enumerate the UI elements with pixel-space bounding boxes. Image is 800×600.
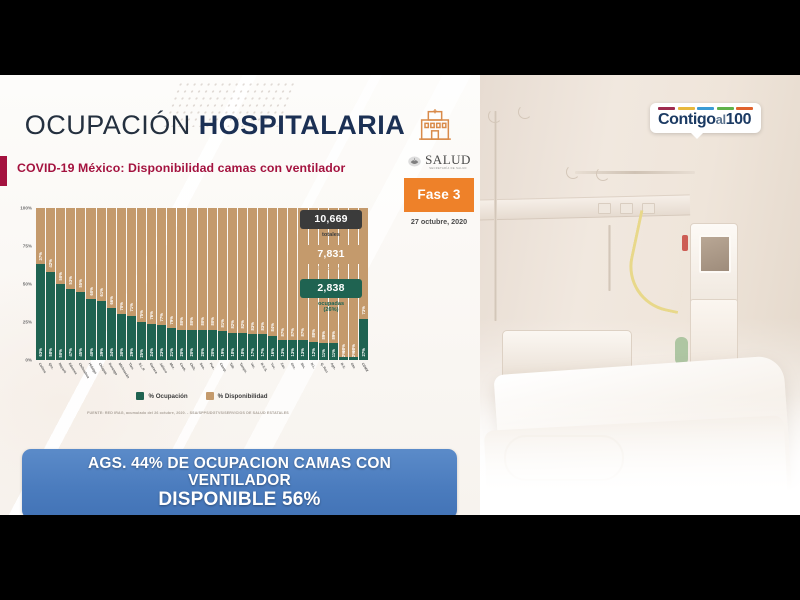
logo-color-bar [678,107,695,110]
x-axis-tick: Ver. [248,361,257,387]
section-title: COVID-19 México: Disponibilidad camas co… [17,161,345,175]
bar-label-disponibilidad: 81% [220,319,225,328]
bar-label-ocupacion: 17% [260,348,265,357]
bar-label-ocupacion: 58% [48,348,53,357]
caption-line-2: VENTILADOR [34,473,445,490]
bar-label-ocupacion: 11% [321,349,326,357]
chart-x-axis-labels: ColimaQro.NayaritEdomexChihuahuaHidalgoC… [36,361,368,387]
bar-label-disponibilidad: 82% [230,320,235,329]
emergency-switch [682,235,688,251]
pole-hook-icon [596,167,610,181]
x-axis-tick: Mor. [167,361,176,387]
chart-bar[interactable]: 81%19% [218,208,227,360]
bar-segment-ocupacion: 40% [86,299,95,360]
legend-swatch [206,392,214,400]
fase-badge: Fase 3 [404,178,474,212]
x-axis-tick: Jalisco [157,361,166,387]
salud-subtitle: SECRETARÍA DE SALUD [425,167,471,170]
bar-segment-disponibilidad: 55% [76,208,85,292]
bar-segment-disponibilidad: 70% [117,208,126,314]
bar-label-ocupacion: 13% [300,348,305,357]
chart-bar[interactable]: 80%20% [187,208,196,360]
x-axis-tick: Tab. [228,361,237,387]
chart-bar[interactable]: 76%24% [147,208,156,360]
bar-label-disponibilidad: 82% [240,320,245,329]
bar-segment-disponibilidad: 61% [97,208,106,301]
legend-label: % Disponibilidad [218,393,268,400]
legend-item[interactable]: % Ocupación [136,392,187,400]
x-axis-tick: Edomex [66,361,75,387]
bar-segment-disponibilidad: 82% [238,208,247,333]
title-bold-part: HOSPITALARIA [199,110,406,140]
bar-segment-ocupacion: 2% [339,357,348,360]
video-content: OCUPACIÓN HOSPITALARIA COVID-19 México: … [0,75,800,515]
bar-label-disponibilidad: 66% [109,296,114,305]
chart-y-axis: 0%25%50%75%100% [8,208,34,360]
chart-source-note: FUENTE: RED IRAG, acumulado del 26 octub… [8,411,368,415]
bar-label-ocupacion: 29% [129,348,134,357]
x-axis-tick: Nayarit [56,361,65,387]
x-axis-tick: Qro. [46,361,55,387]
bar-segment-ocupacion: 23% [157,325,166,360]
bar-label-disponibilidad: 87% [300,328,305,337]
chart-bar[interactable]: 75%25% [137,208,146,360]
bar-label-disponibilidad: 50% [58,272,63,281]
hospital-room-photo: Contigoal100 [480,75,800,515]
bar-label-disponibilidad: 88% [311,329,316,338]
bar-label-disponibilidad: 76% [149,311,154,320]
bar-segment-disponibilidad: 80% [208,208,217,330]
stat-value: 2,838 [300,279,362,298]
presentation-slide: OCUPACIÓN HOSPITALARIA COVID-19 México: … [0,75,480,515]
wall-outlet [620,203,633,214]
chart-bar[interactable]: 42%58% [46,208,55,360]
iv-pole [494,111,497,321]
bar-label-disponibilidad: 84% [270,323,275,332]
bar-segment-ocupacion: 21% [167,328,176,360]
bar-label-ocupacion: 25% [139,349,144,358]
bar-label-ocupacion: 16% [270,348,275,357]
wall-outlet [598,203,611,214]
chart-bar[interactable]: 80%20% [208,208,217,360]
bar-label-disponibilidad: 71% [129,303,134,312]
bar-label-ocupacion: 2% [341,351,346,357]
bar-label-ocupacion: 47% [68,348,73,357]
bar-segment-disponibilidad: 81% [218,208,227,331]
bar-label-disponibilidad: 60% [89,287,94,296]
bar-segment-ocupacion: 18% [228,333,237,360]
bar-label-ocupacion: 20% [200,348,205,357]
bar-segment-ocupacion: 29% [127,316,136,360]
x-axis-tick: Q. Roo [319,361,328,387]
bar-segment-disponibilidad: 80% [187,208,196,330]
y-axis-tick: 0% [25,358,32,363]
chart-bar[interactable]: 70%30% [117,208,126,360]
stat-caption: disponibles [300,266,362,272]
chart-stat-cards: 10,669totales7,831disponibles2,838ocupad… [300,210,362,320]
bar-segment-ocupacion: 20% [198,330,207,360]
stat-caption: ocupadas (26%) [300,301,362,313]
bar-segment-ocupacion: 58% [46,272,55,360]
bar-segment-ocupacion: 18% [238,333,247,360]
bar-segment-disponibilidad: 87% [278,208,287,340]
x-axis-tick: Gro. [288,361,297,387]
bar-segment-ocupacion: 2% [349,357,358,360]
x-axis-tick: Coah. [177,361,186,387]
x-axis-tick: Gto. [349,361,358,387]
x-axis-tick: Hidalgo [86,361,95,387]
bar-label-disponibilidad: 77% [159,313,164,322]
bar-label-ocupacion: 20% [189,348,194,357]
pole-hook-icon [488,109,502,123]
x-axis-tick: Oaxaca [147,361,156,387]
y-axis-tick: 25% [23,320,32,325]
bar-label-disponibilidad: 80% [210,317,215,326]
bar-segment-disponibilidad: 71% [127,208,136,316]
mexican-eagle-seal-icon [407,154,422,169]
bar-segment-ocupacion: 19% [218,331,227,360]
x-axis-tick: B.C. [339,361,348,387]
bar-label-disponibilidad: 70% [119,302,124,311]
bar-label-disponibilidad: 87% [290,328,295,337]
bar-segment-ocupacion: 20% [177,330,186,360]
x-axis-tick: Chiapas [97,361,106,387]
chart: 0%25%50%75%100% 37%63%42%58%50%50%53%47%… [8,208,368,468]
stat-value: 7,831 [300,245,362,264]
bar-label-ocupacion: 18% [230,348,235,357]
bar-label-disponibilidad: 79% [169,316,174,325]
chart-bar[interactable]: 37%63% [36,208,45,360]
logo-word-100: 100 [726,111,752,128]
x-axis-tick: CDMX [359,361,368,387]
x-axis-tick: Chih. [187,361,196,387]
slide-date: 27 octubre, 2020 [404,217,474,226]
bar-segment-disponibilidad: 80% [198,208,207,330]
bar-segment-ocupacion: 17% [248,334,257,360]
title-light-part: OCUPACIÓN [25,110,199,140]
bar-label-ocupacion: 19% [220,348,225,357]
x-axis-tick: Durango [107,361,116,387]
video-frame: OCUPACIÓN HOSPITALARIA COVID-19 México: … [0,0,800,600]
bar-segment-disponibilidad: 83% [258,208,267,334]
logo-wordmark: Contigoal100 [658,112,753,128]
logo-color-bar [697,107,714,110]
bar-segment-ocupacion: 30% [117,314,126,360]
bar-label-ocupacion: 21% [169,348,174,357]
x-axis-tick: Tamps. [238,361,247,387]
y-axis-tick: 50% [23,282,32,287]
photo-bottom-fade [480,395,800,515]
bar-label-ocupacion: 45% [78,348,83,357]
bar-segment-ocupacion: 47% [66,289,75,360]
bar-segment-ocupacion: 11% [319,343,328,360]
bar-label-disponibilidad: 61% [99,288,104,297]
bar-segment-disponibilidad: 84% [268,208,277,336]
stat-caption: totales [300,232,362,238]
bar-segment-ocupacion: 24% [147,324,156,360]
bar-segment-ocupacion: 13% [278,340,287,360]
x-axis-tick: Colima [36,361,45,387]
page-title: OCUPACIÓN HOSPITALARIA [25,110,406,141]
logo-word-contigo: Contigo [658,111,716,128]
chart-bar[interactable]: 55%45% [76,208,85,360]
bar-segment-ocupacion: 11% [329,343,338,360]
bar-label-ocupacion: 13% [280,348,285,357]
bar-label-ocupacion: 63% [38,348,43,357]
stat-value: 10,669 [300,210,362,229]
bar-label-ocupacion: 24% [149,348,154,357]
chart-bar[interactable]: 61%39% [97,208,106,360]
slide-title-row: OCUPACIÓN HOSPITALARIA [0,93,480,157]
bar-label-ocupacion: 50% [58,349,63,358]
chart-bar[interactable]: 71%29% [127,208,136,360]
bar-label-disponibilidad: 80% [200,317,205,326]
pole-hook-icon [566,165,580,179]
chart-bar[interactable]: 79%21% [167,208,176,360]
hospital-building-icon [415,105,455,145]
bar-segment-disponibilidad: 75% [137,208,146,322]
y-axis-tick: 75% [23,244,32,249]
x-axis-tick: Yuc. [268,361,277,387]
bar-segment-disponibilidad: 53% [66,208,75,289]
bar-segment-ocupacion: 34% [107,308,116,360]
logo-word-al: al [716,112,726,127]
chart-bar[interactable]: 66%34% [107,208,116,360]
bar-segment-disponibilidad: 76% [147,208,156,324]
logo-color-bar [736,107,753,110]
bar-label-ocupacion: 30% [119,348,124,357]
contigo-al-100-logo: Contigoal100 [650,103,761,133]
x-axis-tick: B.C.S. [258,361,267,387]
bar-label-disponibilidad: 89% [321,331,326,340]
caption-line-1: AGS. 44% DE OCUPACION CAMAS CON [34,456,445,473]
salud-wordmark: SALUD [425,153,471,166]
section-accent-bar [0,156,7,186]
bar-segment-disponibilidad: 87% [288,208,297,340]
bar-label-disponibilidad: 89% [331,331,336,340]
x-axis-tick: Camp. [218,361,227,387]
chart-bar[interactable]: 50%50% [56,208,65,360]
chart-bar[interactable]: 83%17% [248,208,257,360]
bar-label-ocupacion: 34% [109,348,114,357]
bar-segment-ocupacion: 13% [298,340,307,360]
chart-bar[interactable]: 77%23% [157,208,166,360]
chart-bar[interactable]: 84%16% [268,208,277,360]
chart-bar[interactable]: 80%20% [177,208,186,360]
bar-label-ocupacion: 2% [351,351,356,357]
bar-segment-ocupacion: 63% [36,264,45,360]
x-axis-tick: Ags. [329,361,338,387]
x-axis-tick: Michoacán [117,361,126,387]
x-axis-tick: Chihuahua [76,361,85,387]
chart-bar[interactable]: 87%13% [278,208,287,360]
bar-label-ocupacion: 12% [311,348,316,357]
bar-segment-disponibilidad: 83% [248,208,257,334]
logo-color-bar [658,107,675,110]
pole-hook-icon [518,105,532,119]
bar-label-ocupacion: 20% [210,348,215,357]
bar-label-ocupacion: 13% [290,348,295,357]
bar-label-ocupacion: 20% [179,348,184,357]
bar-segment-ocupacion: 16% [268,336,277,360]
bar-segment-ocupacion: 20% [208,330,217,360]
bar-segment-ocupacion: 50% [56,284,65,360]
bar-segment-disponibilidad: 42% [46,208,55,272]
bar-label-disponibilidad: 83% [250,322,255,331]
caption-banner: AGS. 44% DE OCUPACION CAMAS CON VENTILAD… [22,449,457,515]
bar-label-ocupacion: 23% [159,348,164,357]
bar-segment-ocupacion: 45% [76,292,85,360]
x-axis-tick: Son. [198,361,207,387]
x-axis-tick: Sin. [298,361,307,387]
bar-label-ocupacion: 11% [331,349,336,357]
chart-bar[interactable]: 82%18% [228,208,237,360]
iv-pole [608,225,611,291]
caption-line-3: DISPONIBLE 56% [34,490,445,510]
bar-label-disponibilidad: 83% [260,322,265,331]
y-axis-tick: 100% [20,206,32,211]
bar-segment-ocupacion: 39% [97,301,106,360]
chart-legend: % Ocupación% Disponibilidad [36,392,368,400]
legend-label: % Ocupación [148,393,187,400]
bar-segment-disponibilidad: 82% [228,208,237,333]
chart-bar[interactable]: 53%47% [66,208,75,360]
chart-bar[interactable]: 87%13% [288,208,297,360]
bar-label-disponibilidad: 87% [280,328,285,337]
salud-branding: SALUD SECRETARÍA DE SALUD Fase 3 27 octu… [404,153,474,226]
x-axis-tick: N.L. [309,361,318,387]
bar-label-ocupacion: 18% [240,348,245,357]
bar-segment-disponibilidad: 66% [107,208,116,308]
bar-label-disponibilidad: 55% [78,279,83,288]
logo-pointer [690,132,704,139]
bar-segment-ocupacion: 13% [288,340,297,360]
bar-label-disponibilidad: 80% [179,317,184,326]
x-axis-tick: Zac. [278,361,287,387]
bar-segment-ocupacion: 25% [137,322,146,360]
bar-label-ocupacion: 39% [99,348,104,357]
bar-label-disponibilidad: 37% [38,252,43,261]
bar-segment-ocupacion: 17% [258,334,267,360]
bar-label-ocupacion: 17% [250,348,255,357]
bar-segment-ocupacion: 12% [309,342,318,360]
bar-label-ocupacion: 27% [361,348,366,357]
bar-segment-disponibilidad: 79% [167,208,176,328]
x-axis-tick: Pue. [208,361,217,387]
x-axis-tick: Tlax. [127,361,136,387]
legend-item[interactable]: % Disponibilidad [206,392,268,400]
bar-segment-disponibilidad: 50% [56,208,65,284]
bar-segment-disponibilidad: 60% [86,208,95,299]
bar-segment-disponibilidad: 37% [36,208,45,264]
bar-label-ocupacion: 40% [89,348,94,357]
salud-logo-row: SALUD SECRETARÍA DE SALUD [404,153,474,170]
x-axis-tick: S.L.P. [137,361,146,387]
chart-bar[interactable]: 83%17% [258,208,267,360]
bar-segment-disponibilidad: 80% [177,208,186,330]
bar-label-disponibilidad: 42% [48,259,53,268]
bar-segment-disponibilidad: 77% [157,208,166,325]
bar-label-disponibilidad: 75% [139,310,144,319]
bar-segment-ocupacion: 20% [187,330,196,360]
ceiling-track [575,171,695,174]
bar-label-disponibilidad: 53% [68,276,73,285]
bar-label-disponibilidad: 80% [189,317,194,326]
chart-bar[interactable]: 80%20% [198,208,207,360]
legend-swatch [136,392,144,400]
logo-color-bars [658,107,753,110]
ventilator-screen [699,235,731,273]
chart-bar[interactable]: 60%40% [86,208,95,360]
logo-color-bar [717,107,734,110]
bar-segment-ocupacion: 27% [359,319,368,360]
chart-bar[interactable]: 82%18% [238,208,247,360]
